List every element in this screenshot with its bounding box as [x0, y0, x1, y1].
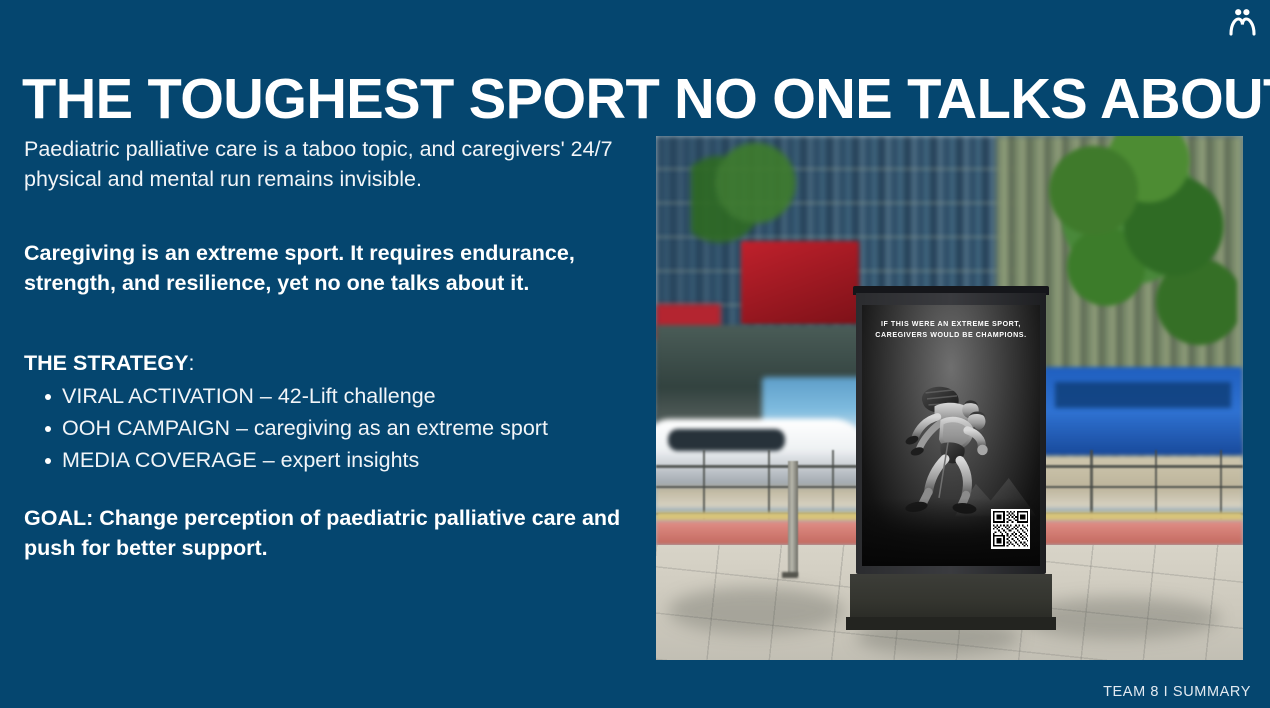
bollard-base: [782, 572, 798, 578]
bus-right-windows: [1055, 382, 1231, 408]
billboard-headline-line-1: IF THIS WERE AN EXTREME SPORT,: [862, 319, 1041, 330]
street-bollard: [788, 461, 798, 576]
spacer: [24, 476, 632, 503]
strategy-label: THE STRATEGY: [24, 351, 188, 375]
billboard-base-skirt: [846, 617, 1056, 630]
slide-canvas: THE TOUGHEST SPORT NO ONE TALKS ABOUT Pa…: [0, 0, 1270, 708]
billboard-headline-line-2: CAREGIVERS WOULD BE CHAMPIONS.: [862, 330, 1041, 341]
red-billboard-sign: [741, 241, 858, 325]
billboard-base-pedestal: [850, 574, 1052, 620]
street-scene: IF THIS WERE AN EXTREME SPORT, CAREGIVER…: [656, 136, 1243, 660]
list-item: MEDIA COVERAGE – expert insights: [62, 444, 632, 476]
statement-paragraph: Caregiving is an extreme sport. It requi…: [24, 238, 632, 298]
tree-left: [691, 136, 820, 251]
strategy-list: VIRAL ACTIVATION – 42-Lift challenge OOH…: [24, 380, 632, 476]
billboard-street-mockup-image: IF THIS WERE AN EXTREME SPORT, CAREGIVER…: [656, 136, 1243, 660]
billboard-screen: IF THIS WERE AN EXTREME SPORT, CAREGIVER…: [862, 305, 1041, 567]
spacer: [24, 194, 632, 238]
intro-paragraph: Paediatric palliative care is a taboo to…: [24, 134, 632, 194]
strategy-colon: :: [188, 351, 194, 375]
goal-paragraph: GOAL: Change perception of paediatric pa…: [24, 503, 632, 563]
left-content-column: Paediatric palliative care is a taboo to…: [24, 134, 632, 563]
digital-billboard: IF THIS WERE AN EXTREME SPORT, CAREGIVER…: [856, 286, 1047, 574]
list-item: VIRAL ACTIVATION – 42-Lift challenge: [62, 380, 632, 412]
billboard-headline: IF THIS WERE AN EXTREME SPORT, CAREGIVER…: [862, 319, 1041, 341]
qr-code: [991, 509, 1031, 549]
list-item: OOH CAMPAIGN – caregiving as an extreme …: [62, 412, 632, 444]
strategy-heading: THE STRATEGY:: [24, 348, 632, 378]
bus-right: [1043, 367, 1243, 456]
page-title: THE TOUGHEST SPORT NO ONE TALKS ABOUT: [22, 70, 1224, 130]
footer-label: TEAM 8 I SUMMARY: [1103, 684, 1251, 700]
car-windows: [668, 429, 785, 451]
spacer: [24, 298, 632, 348]
two-people-logo-icon: [1227, 8, 1257, 36]
billboard-frame: IF THIS WERE AN EXTREME SPORT, CAREGIVER…: [856, 293, 1047, 574]
